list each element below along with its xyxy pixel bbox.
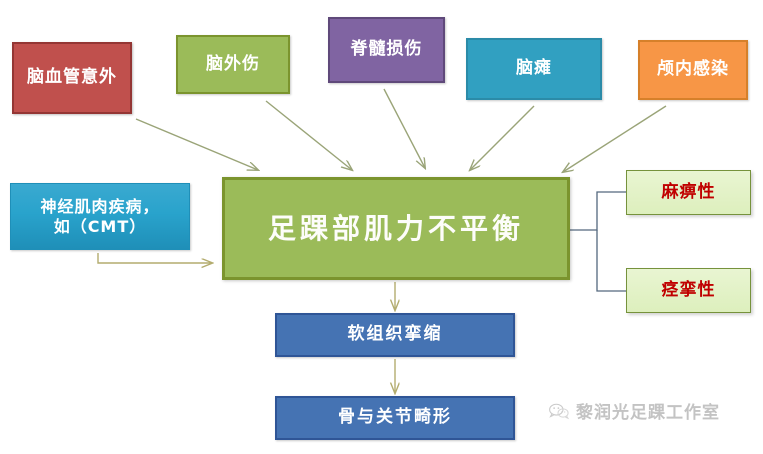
arrow-nmd-to-center — [98, 253, 212, 263]
bracket-center-to-types-lower — [597, 230, 626, 291]
arrow-tbi-to-center — [266, 101, 352, 170]
node-label: 颅内感染 — [657, 59, 729, 80]
node-label: 脑外伤 — [206, 54, 260, 75]
watermark-text: 黎润光足踝工作室 — [576, 398, 720, 423]
node-cerebrovascular-accident[interactable]: 脑血管意外 — [12, 42, 132, 114]
node-cerebral-palsy[interactable]: 脑瘫 — [466, 38, 602, 100]
node-label: 痉挛性 — [662, 280, 716, 301]
wechat-icon — [548, 402, 570, 420]
node-label: 神经肌肉疾病， 如（CMT） — [40, 197, 159, 237]
node-traumatic-brain-injury[interactable]: 脑外伤 — [176, 35, 290, 94]
arrow-cva-to-center — [136, 119, 258, 170]
node-bone-joint-deformity[interactable]: 骨与关节畸形 — [275, 396, 515, 440]
arrow-infection-to-center — [563, 106, 666, 172]
arrow-cp-to-center — [470, 106, 534, 170]
diagram-canvas: 脑血管意外 脑外伤 脊髓损伤 脑瘫 颅内感染 神经肌肉疾病， 如（CMT） 足踝… — [0, 0, 763, 454]
node-spastic-type[interactable]: 痉挛性 — [626, 268, 751, 313]
node-soft-tissue-contracture[interactable]: 软组织挛缩 — [275, 313, 515, 357]
node-label: 软组织挛缩 — [348, 324, 443, 345]
watermark: 黎润光足踝工作室 — [548, 398, 720, 423]
node-ankle-muscle-imbalance[interactable]: 足踝部肌力不平衡 — [222, 177, 570, 280]
node-flaccid-type[interactable]: 麻痹性 — [626, 170, 751, 215]
node-label: 麻痹性 — [662, 182, 716, 203]
node-intracranial-infection[interactable]: 颅内感染 — [638, 40, 748, 100]
node-neuromuscular-disease[interactable]: 神经肌肉疾病， 如（CMT） — [10, 183, 190, 250]
node-label: 脑瘫 — [516, 58, 552, 79]
bracket-center-to-types — [570, 192, 626, 230]
node-label: 脊髓损伤 — [351, 39, 423, 60]
node-label: 骨与关节畸形 — [338, 407, 452, 428]
node-spinal-cord-injury[interactable]: 脊髓损伤 — [328, 17, 445, 83]
node-label: 脑血管意外 — [27, 67, 117, 88]
arrow-sci-to-center — [384, 89, 425, 168]
node-label: 足踝部肌力不平衡 — [268, 211, 524, 246]
